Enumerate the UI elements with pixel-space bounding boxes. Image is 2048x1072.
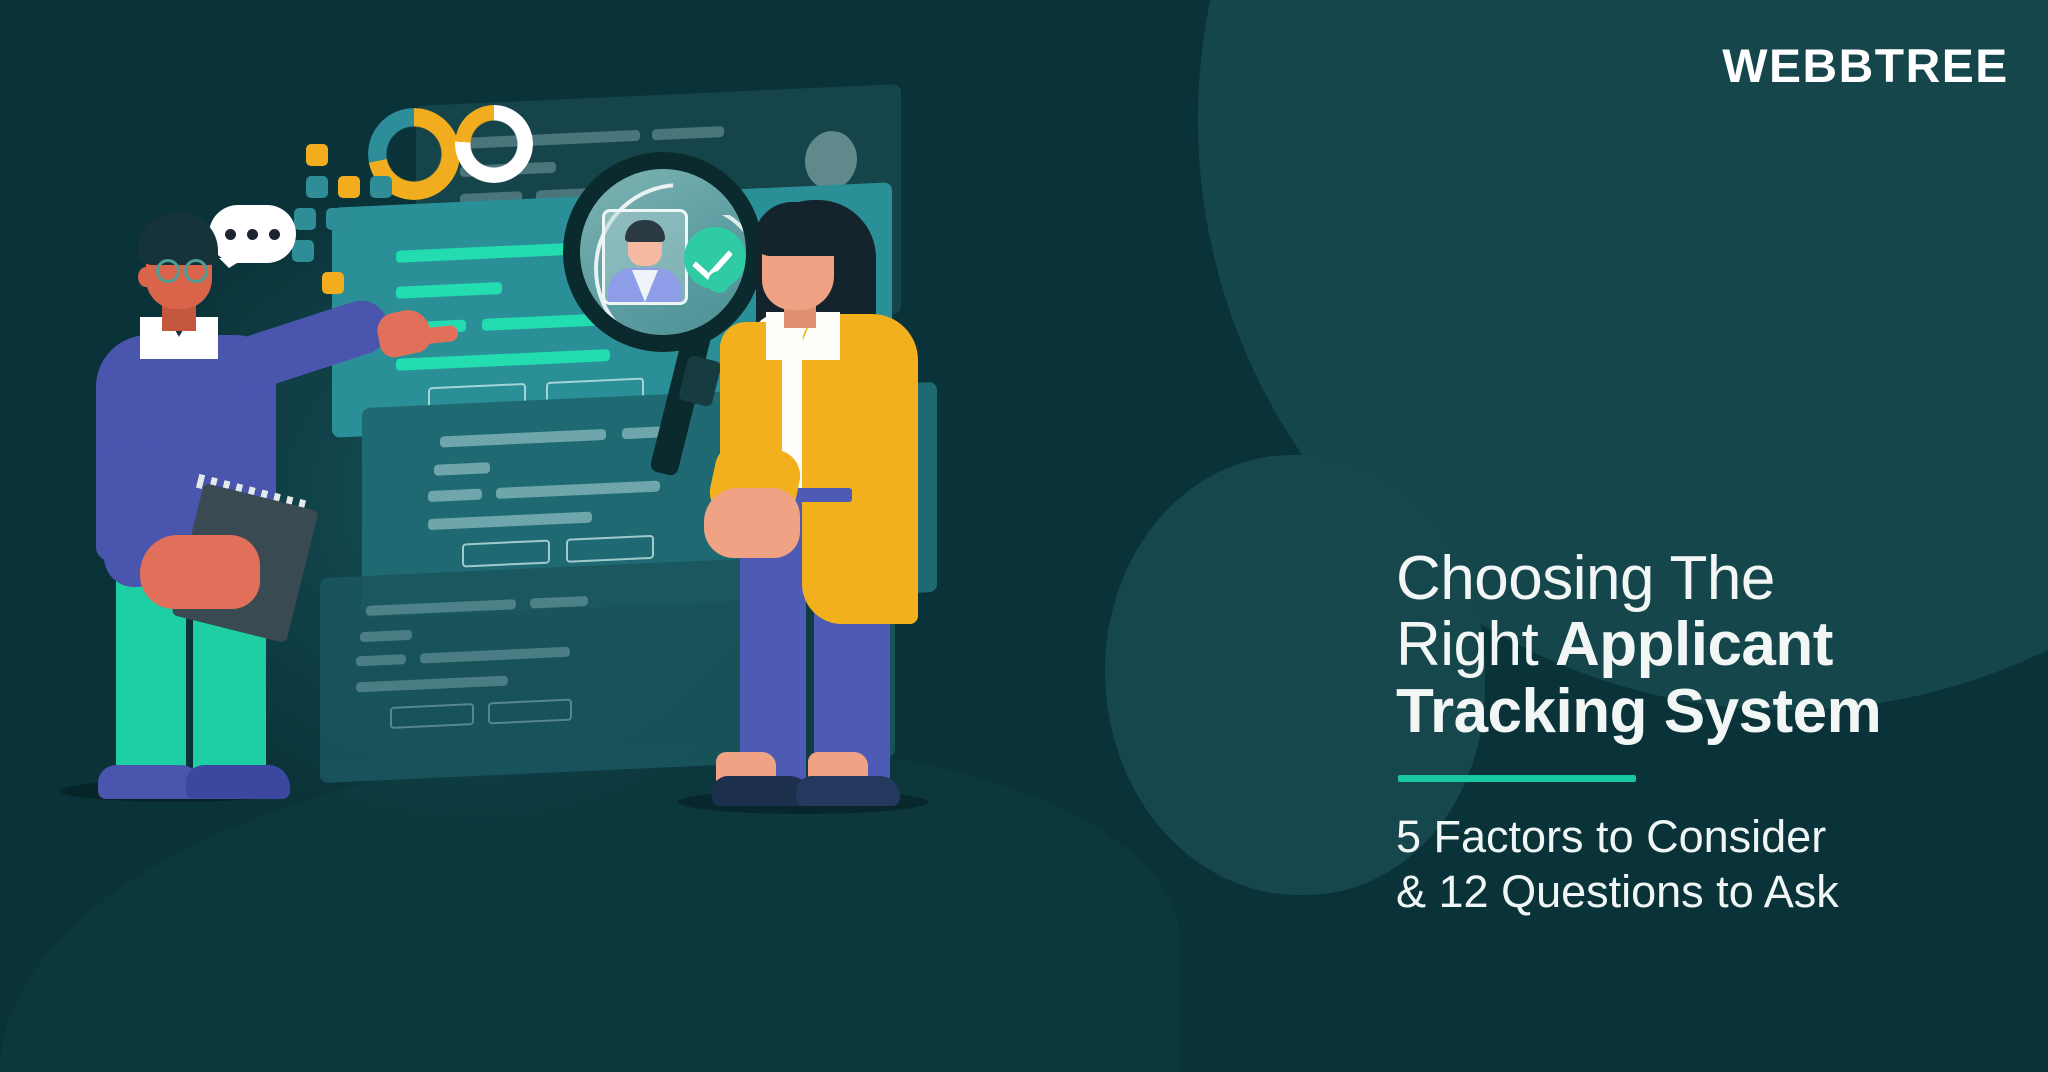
card-line [428, 489, 482, 502]
card-line [440, 429, 606, 448]
pixel-square-icon [306, 144, 328, 166]
page-title: Choosing The Right Applicant Tracking Sy… [1396, 546, 2016, 745]
recruiter-woman-illustration [690, 196, 960, 796]
subtitle-line-1: 5 Factors to Consider [1396, 810, 2016, 865]
card-line-accent [396, 242, 588, 263]
card-action-button-2[interactable] [488, 699, 572, 725]
card-line [530, 596, 588, 609]
donut-chart-white-yellow [455, 105, 533, 183]
card-action-button-2[interactable] [566, 535, 654, 563]
subtitle-line-2: & 12 Questions to Ask [1396, 865, 2016, 920]
recruiter-man-illustration [78, 205, 408, 785]
title-line-3: Tracking System [1396, 679, 2016, 745]
card-line-accent [396, 282, 502, 299]
pixel-square-icon [306, 176, 328, 198]
card-line [496, 481, 660, 499]
card-line [420, 647, 570, 664]
card-line-accent [396, 349, 610, 371]
card-line [434, 462, 490, 476]
card-line [428, 512, 592, 530]
card-line [652, 126, 724, 140]
banner-canvas: WEBBTREE [0, 0, 2048, 1072]
title-line-1: Choosing The [1396, 546, 2016, 612]
title-divider [1398, 775, 1636, 782]
title-line-2-light: Right [1396, 610, 1555, 679]
webbtree-logo[interactable]: WEBBTREE [1722, 38, 2009, 93]
card-action-button-1[interactable] [462, 540, 550, 568]
pixel-square-icon [370, 176, 392, 198]
pixel-square-icon [338, 176, 360, 198]
selected-candidate-photo [602, 209, 688, 305]
title-line-2-bold: Applicant [1555, 610, 1833, 679]
page-subtitle: 5 Factors to Consider & 12 Questions to … [1396, 810, 2016, 920]
copy-block: Choosing The Right Applicant Tracking Sy… [1396, 546, 2016, 920]
